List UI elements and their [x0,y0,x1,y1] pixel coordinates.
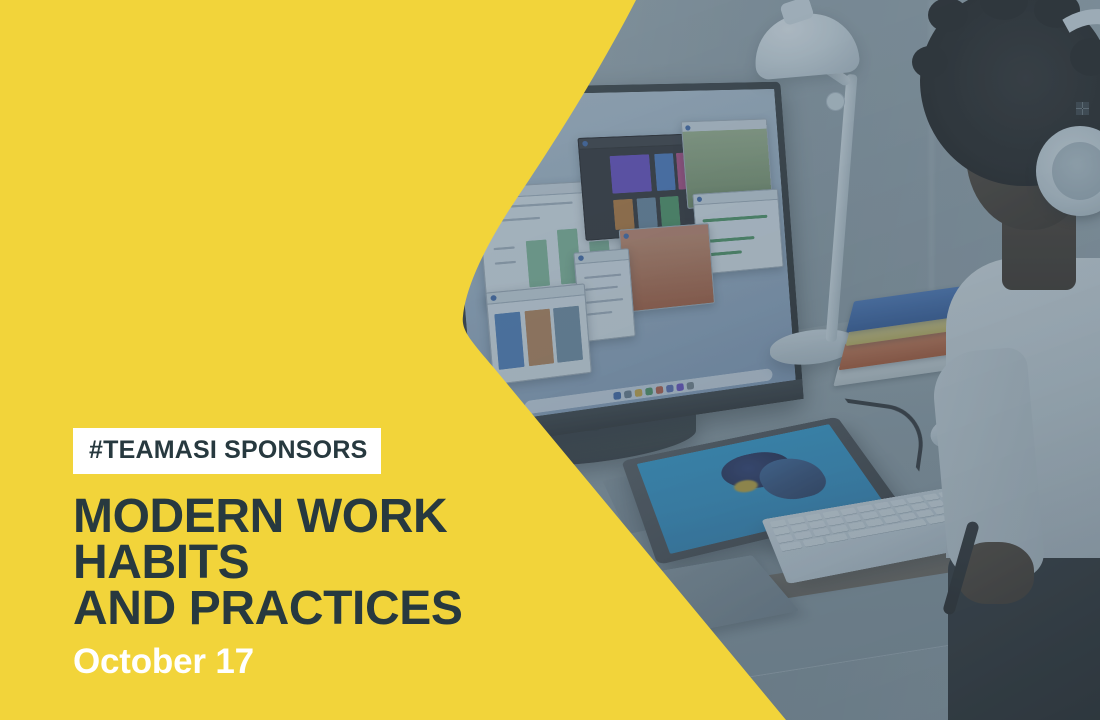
sponsors-badge: #TEAMASI SPONSORS [73,428,381,474]
event-date: October 17 [73,644,633,679]
page-title: MODERN WORK HABITS AND PRACTICES [73,494,633,632]
banner-content: #TEAMASI SPONSORS MODERN WORK HABITS AND… [73,428,633,679]
promo-banner: #TEAMASI SPONSORS MODERN WORK HABITS AND… [0,0,1100,720]
